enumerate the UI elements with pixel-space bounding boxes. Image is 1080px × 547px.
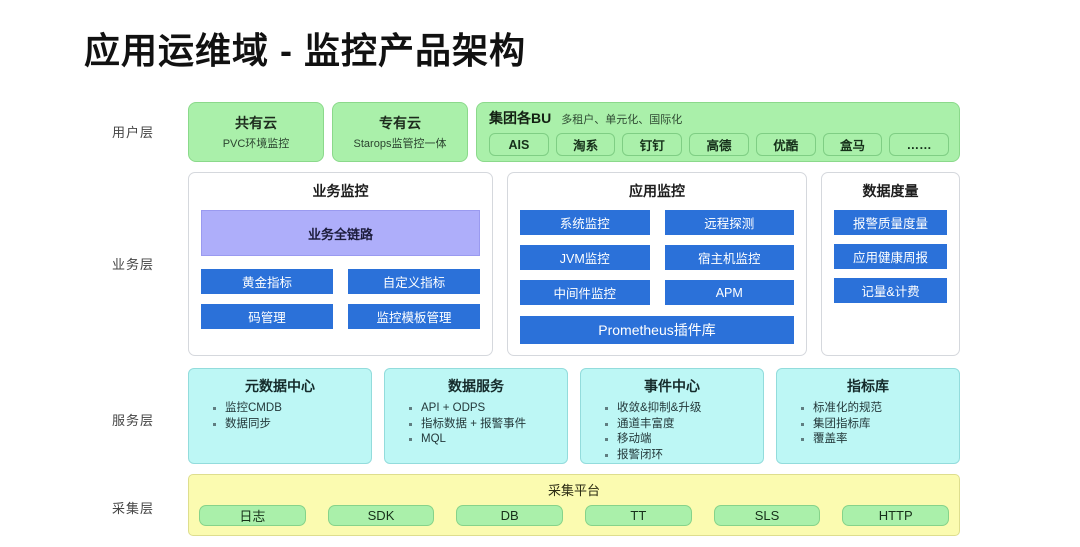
list-item: 通道丰富度 bbox=[605, 417, 753, 433]
bu-subtitle: 多租户、单元化、国际化 bbox=[561, 111, 682, 127]
card-metric-library[interactable]: 指标库 标准化的规范 集团指标库 覆盖率 bbox=[776, 368, 960, 464]
collect-chip-db[interactable]: DB bbox=[456, 505, 563, 526]
box-business-full-link[interactable]: 业务全链路 bbox=[201, 210, 480, 256]
box-golden-metrics[interactable]: 黄金指标 bbox=[201, 269, 333, 294]
architecture-diagram: 用户层 共有云 PVC环境监控 专有云 Starops监管控一体 集团各BU 多… bbox=[0, 96, 1080, 547]
bu-header: 集团各BU 多租户、单元化、国际化 bbox=[489, 108, 949, 128]
bu-chip-taoxi[interactable]: 淘系 bbox=[556, 133, 616, 156]
list-item: 移动端 bbox=[605, 432, 753, 448]
list-item: 集团指标库 bbox=[801, 417, 949, 433]
box-alarm-quality-metrics[interactable]: 报警质量度量 bbox=[834, 210, 947, 235]
box-custom-metrics[interactable]: 自定义指标 bbox=[348, 269, 480, 294]
row-business-layer: 业务层 业务监控 业务全链路 黄金指标 自定义指标 码管理 监控模板管理 应用监… bbox=[0, 172, 1080, 356]
box-code-management[interactable]: 码管理 bbox=[201, 304, 333, 329]
page-title: 应用运维域 - 监控产品架构 bbox=[84, 22, 526, 74]
row-service-layer: 服务层 元数据中心 监控CMDB 数据同步 数据服务 API + ODPS 指标… bbox=[0, 368, 1080, 464]
row-label-business: 业务层 bbox=[112, 254, 182, 273]
collect-chip-sdk[interactable]: SDK bbox=[328, 505, 435, 526]
list-item: 覆盖率 bbox=[801, 432, 949, 448]
card-event-center[interactable]: 事件中心 收敛&抑制&升级 通道丰富度 移动端 报警闭环 bbox=[580, 368, 764, 464]
collect-chip-log[interactable]: 日志 bbox=[199, 505, 306, 526]
card-group-bu: 集团各BU 多租户、单元化、国际化 AIS 淘系 钉钉 高德 优酷 盒马 …… bbox=[476, 102, 960, 162]
list-item: MQL bbox=[409, 432, 557, 448]
collect-platform-title: 采集平台 bbox=[199, 480, 949, 499]
row-user-layer: 用户层 共有云 PVC环境监控 专有云 Starops监管控一体 集团各BU 多… bbox=[0, 102, 1080, 162]
box-remote-probe[interactable]: 远程探测 bbox=[665, 210, 795, 235]
collect-platform: 采集平台 日志 SDK DB TT SLS HTTP bbox=[188, 474, 960, 536]
panel-app-monitor-title: 应用监控 bbox=[520, 181, 794, 201]
list-item: API + ODPS bbox=[409, 401, 557, 417]
card-metric-library-title: 指标库 bbox=[787, 376, 949, 396]
business-monitor-items: 黄金指标 自定义指标 码管理 监控模板管理 bbox=[201, 269, 480, 329]
box-jvm-monitor[interactable]: JVM监控 bbox=[520, 245, 650, 270]
bu-chip-list: AIS 淘系 钉钉 高德 优酷 盒马 …… bbox=[489, 133, 949, 156]
row-label-user: 用户层 bbox=[112, 122, 182, 141]
box-metering-billing[interactable]: 记量&计费 bbox=[834, 278, 947, 303]
card-private-cloud[interactable]: 专有云 Starops监管控一体 bbox=[332, 102, 468, 162]
card-event-center-title: 事件中心 bbox=[591, 376, 753, 396]
bu-chip-youku[interactable]: 优酷 bbox=[756, 133, 816, 156]
bu-chip-hema[interactable]: 盒马 bbox=[823, 133, 883, 156]
panel-business-monitor-title: 业务监控 bbox=[201, 181, 480, 201]
bu-chip-dingding[interactable]: 钉钉 bbox=[622, 133, 682, 156]
list-item: 监控CMDB bbox=[213, 401, 361, 417]
card-metric-library-list: 标准化的规范 集团指标库 覆盖率 bbox=[787, 401, 949, 448]
card-data-service-title: 数据服务 bbox=[395, 376, 557, 396]
bu-chip-ais[interactable]: AIS bbox=[489, 133, 549, 156]
list-item: 报警闭环 bbox=[605, 448, 753, 464]
list-item: 收敛&抑制&升级 bbox=[605, 401, 753, 417]
collect-chip-tt[interactable]: TT bbox=[585, 505, 692, 526]
row-label-service: 服务层 bbox=[112, 410, 182, 429]
card-private-cloud-title: 专有云 bbox=[379, 113, 421, 133]
card-metadata-center[interactable]: 元数据中心 监控CMDB 数据同步 bbox=[188, 368, 372, 464]
card-metadata-center-title: 元数据中心 bbox=[199, 376, 361, 396]
box-monitor-template-management[interactable]: 监控模板管理 bbox=[348, 304, 480, 329]
box-prometheus-plugin-library[interactable]: Prometheus插件库 bbox=[520, 316, 794, 344]
card-event-center-list: 收敛&抑制&升级 通道丰富度 移动端 报警闭环 bbox=[591, 401, 753, 463]
collect-chip-sls[interactable]: SLS bbox=[714, 505, 821, 526]
box-middleware-monitor[interactable]: 中间件监控 bbox=[520, 280, 650, 305]
collect-chip-list: 日志 SDK DB TT SLS HTTP bbox=[199, 505, 949, 526]
panel-data-metrics-title: 数据度量 bbox=[834, 181, 947, 201]
list-item: 标准化的规范 bbox=[801, 401, 949, 417]
panel-business-monitor: 业务监控 业务全链路 黄金指标 自定义指标 码管理 监控模板管理 bbox=[188, 172, 493, 356]
box-system-monitor[interactable]: 系统监控 bbox=[520, 210, 650, 235]
list-item: 数据同步 bbox=[213, 417, 361, 433]
collect-chip-http[interactable]: HTTP bbox=[842, 505, 949, 526]
card-data-service-list: API + ODPS 指标数据 + 报警事件 MQL bbox=[395, 401, 557, 448]
box-host-monitor[interactable]: 宿主机监控 bbox=[665, 245, 795, 270]
card-public-cloud-title: 共有云 bbox=[235, 113, 277, 133]
card-private-cloud-subtitle: Starops监管控一体 bbox=[354, 135, 447, 151]
card-data-service[interactable]: 数据服务 API + ODPS 指标数据 + 报警事件 MQL bbox=[384, 368, 568, 464]
row-collect-layer: 采集层 采集平台 日志 SDK DB TT SLS HTTP bbox=[0, 474, 1080, 536]
app-monitor-items: 系统监控 远程探测 JVM监控 宿主机监控 中间件监控 APM bbox=[520, 210, 794, 305]
card-metadata-center-list: 监控CMDB 数据同步 bbox=[199, 401, 361, 432]
row-label-collect: 采集层 bbox=[112, 498, 182, 517]
bu-chip-more[interactable]: …… bbox=[889, 133, 949, 156]
card-public-cloud[interactable]: 共有云 PVC环境监控 bbox=[188, 102, 324, 162]
panel-data-metrics: 数据度量 报警质量度量 应用健康周报 记量&计费 bbox=[821, 172, 960, 356]
box-apm[interactable]: APM bbox=[665, 280, 795, 305]
box-app-health-weekly[interactable]: 应用健康周报 bbox=[834, 244, 947, 269]
card-public-cloud-subtitle: PVC环境监控 bbox=[223, 135, 290, 151]
panel-app-monitor: 应用监控 系统监控 远程探测 JVM监控 宿主机监控 中间件监控 APM Pro… bbox=[507, 172, 807, 356]
bu-title: 集团各BU bbox=[489, 108, 551, 128]
list-item: 指标数据 + 报警事件 bbox=[409, 417, 557, 433]
data-metrics-items: 报警质量度量 应用健康周报 记量&计费 bbox=[834, 210, 947, 303]
bu-chip-gaode[interactable]: 高德 bbox=[689, 133, 749, 156]
